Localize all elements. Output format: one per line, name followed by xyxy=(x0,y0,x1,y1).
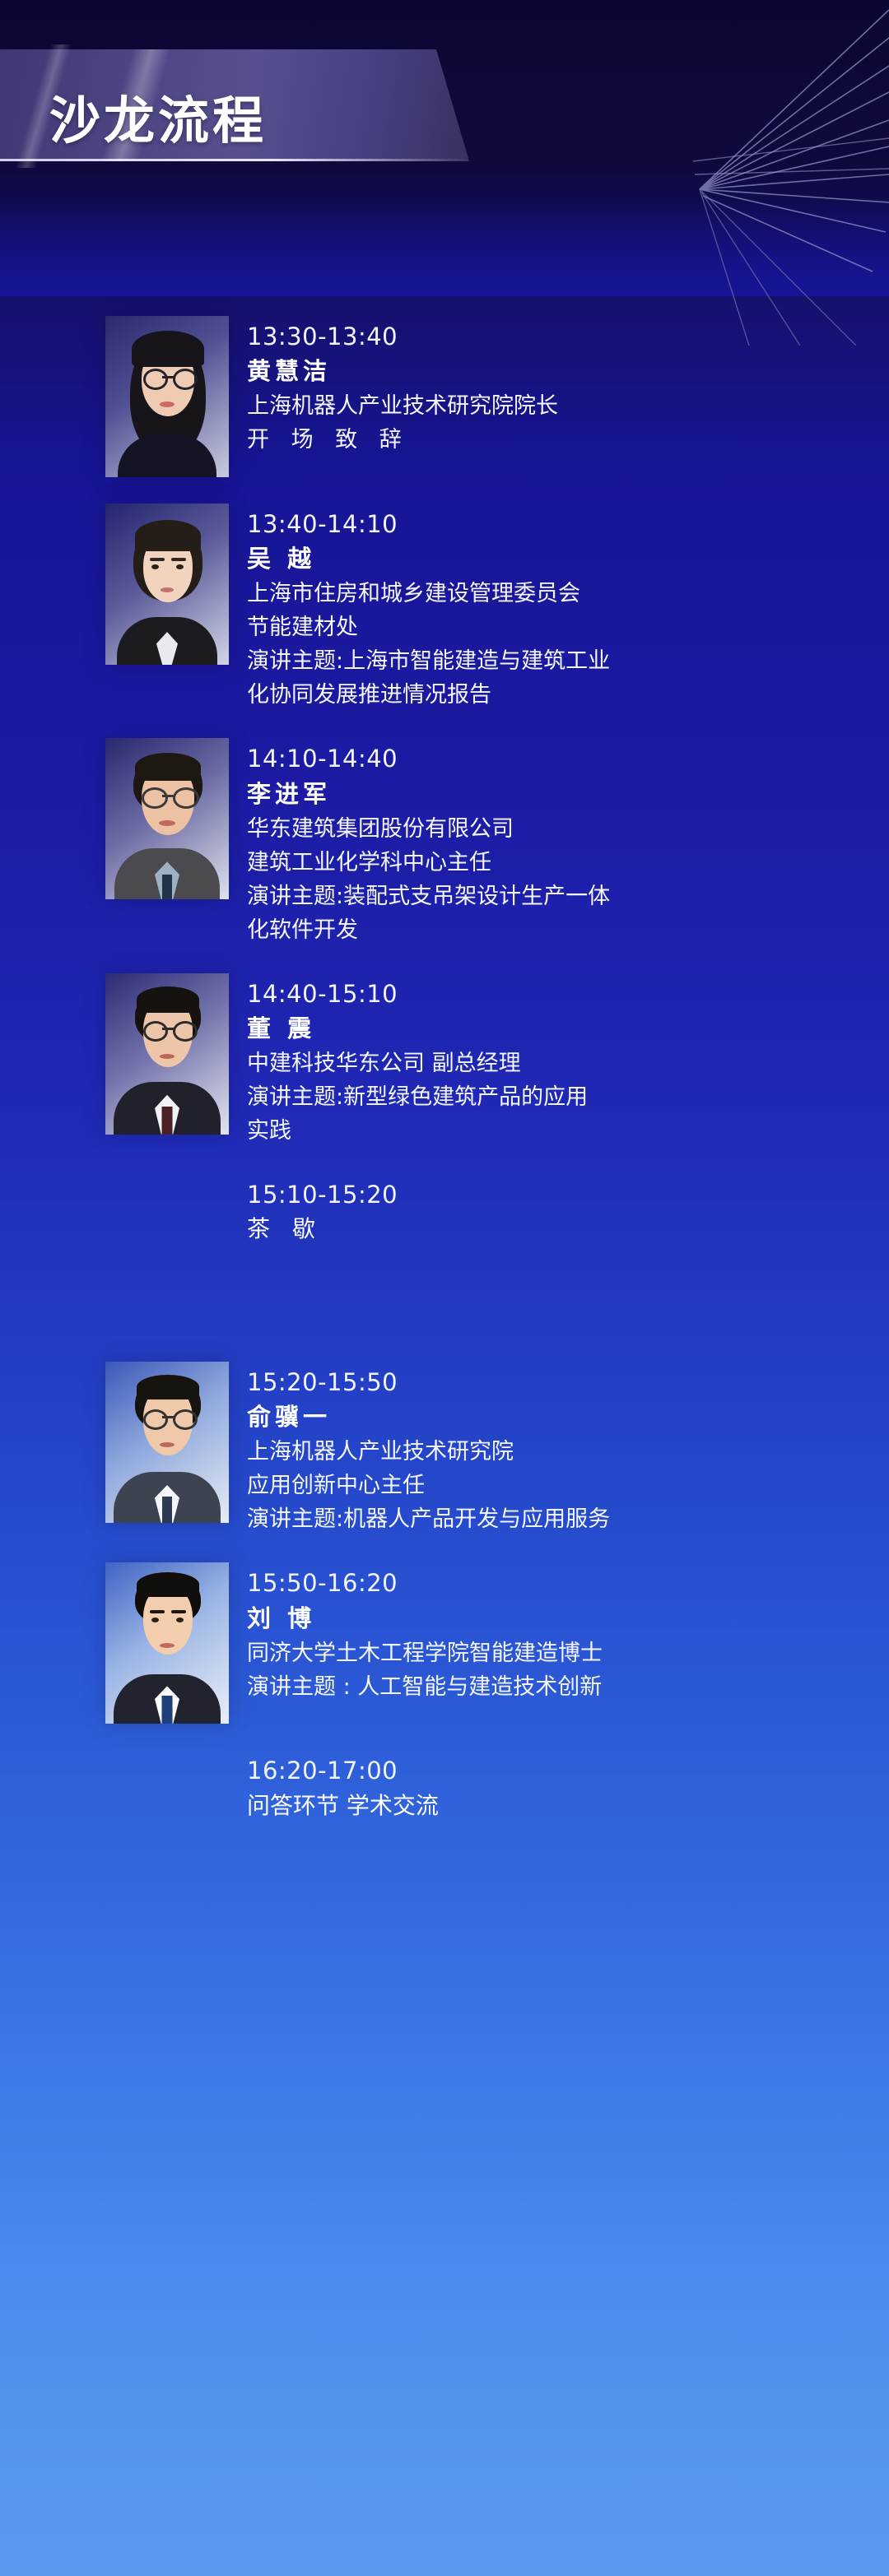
salon-agenda-poster: 沙龙流程 13:30-13:40 黄慧洁 上海 xyxy=(0,0,889,2576)
list-item: 14:40-15:10 董 震 中建科技华东公司 副总经理 演讲主题:新型绿色建… xyxy=(0,962,889,1163)
list-item: 13:40-14:10 吴 越 上海市住房和城乡建设管理委员会 节能建材处 演讲… xyxy=(0,492,889,726)
entry-text: 14:40-15:10 董 震 中建科技华东公司 副总经理 演讲主题:新型绿色建… xyxy=(247,973,889,1148)
speaker-affiliation: 华东建筑集团股份有限公司 xyxy=(247,812,889,846)
time-label: 13:40-14:10 xyxy=(247,507,889,541)
session-label: 问答环节 学术交流 xyxy=(247,1789,889,1823)
avatar xyxy=(105,316,229,477)
list-item: 13:30-13:40 黄慧洁 上海机器人产业技术研究院院长 开 场 致 辞 xyxy=(0,304,889,492)
list-item: 14:10-14:40 李进军 华东建筑集团股份有限公司 建筑工业化学科中心主任… xyxy=(0,726,889,961)
speaker-affiliation: 上海市住房和城乡建设管理委员会 xyxy=(247,577,889,610)
session-label: 开 场 致 辞 xyxy=(247,423,889,457)
speaker-name: 俞骥一 xyxy=(247,1399,889,1435)
entry-text: 14:10-14:40 李进军 华东建筑集团股份有限公司 建筑工业化学科中心主任… xyxy=(247,738,889,946)
talk-title-line-1: 演讲主题 : 人工智能与建造技术创新 xyxy=(247,1670,889,1704)
speaker-department: 建筑工业化学科中心主任 xyxy=(247,846,889,880)
time-label: 13:30-13:40 xyxy=(247,319,889,354)
speaker-name: 黄慧洁 xyxy=(247,354,889,389)
time-label: 15:10-15:20 xyxy=(247,1177,889,1212)
entry-text: 16:20-17:00 问答环节 学术交流 xyxy=(247,1750,889,1822)
list-item: 16:20-17:00 问答环节 学术交流 xyxy=(0,1738,889,1926)
speaker-department: 应用创新中心主任 xyxy=(247,1469,889,1502)
time-label: 15:20-15:50 xyxy=(247,1365,889,1399)
speaker-department: 节能建材处 xyxy=(247,610,889,644)
time-label: 15:50-16:20 xyxy=(247,1566,889,1600)
talk-title-line-1: 演讲主题:装配式支吊架设计生产一体 xyxy=(247,880,889,913)
speaker-affiliation: 上海机器人产业技术研究院院长 xyxy=(247,389,889,423)
talk-title-line-2: 实践 xyxy=(247,1114,889,1148)
entry-text: 13:30-13:40 黄慧洁 上海机器人产业技术研究院院长 开 场 致 辞 xyxy=(247,316,889,457)
speaker-affiliation: 中建科技华东公司 副总经理 xyxy=(247,1047,889,1080)
list-item: 15:10-15:20 茶 歇 xyxy=(0,1163,889,1350)
speaker-name: 吴 越 xyxy=(247,541,889,577)
page-title: 沙龙流程 xyxy=(49,79,267,153)
speaker-affiliation: 同济大学土木工程学院智能建造博士 xyxy=(247,1636,889,1670)
time-label: 14:10-14:40 xyxy=(247,741,889,776)
speaker-photo-slot xyxy=(0,1562,247,1724)
speaker-name: 刘 博 xyxy=(247,1601,889,1636)
speaker-photo-slot xyxy=(0,504,247,665)
speaker-photo-slot xyxy=(0,1362,247,1523)
speaker-name: 李进军 xyxy=(247,777,889,812)
speaker-photo-slot xyxy=(0,1174,247,1335)
speaker-photo-slot xyxy=(0,973,247,1135)
speaker-photo-slot xyxy=(0,1750,247,1911)
list-item: 15:20-15:50 俞骥一 上海机器人产业技术研究院 应用创新中心主任 演讲… xyxy=(0,1350,889,1551)
list-item: 15:50-16:20 刘 博 同济大学土木工程学院智能建造博士 演讲主题 : … xyxy=(0,1551,889,1738)
speaker-photo-slot xyxy=(0,738,247,899)
avatar xyxy=(105,738,229,899)
avatar xyxy=(105,504,229,665)
talk-title-line-2: 化软件开发 xyxy=(247,913,889,947)
schedule-list: 13:30-13:40 黄慧洁 上海机器人产业技术研究院院长 开 场 致 辞 xyxy=(0,304,889,1926)
speaker-photo-slot xyxy=(0,316,247,477)
entry-text: 15:50-16:20 刘 博 同济大学土木工程学院智能建造博士 演讲主题 : … xyxy=(247,1562,889,1703)
talk-title-line-2: 化协同发展推进情况报告 xyxy=(247,678,889,712)
speaker-name: 董 震 xyxy=(247,1011,889,1047)
entry-text: 15:20-15:50 俞骥一 上海机器人产业技术研究院 应用创新中心主任 演讲… xyxy=(247,1362,889,1536)
talk-title-line-1: 演讲主题:上海市智能建造与建筑工业 xyxy=(247,644,889,678)
avatar xyxy=(105,973,229,1135)
entry-text: 13:40-14:10 吴 越 上海市住房和城乡建设管理委员会 节能建材处 演讲… xyxy=(247,504,889,712)
entry-text: 15:10-15:20 茶 歇 xyxy=(247,1174,889,1246)
session-label: 茶 歇 xyxy=(247,1212,889,1246)
time-label: 16:20-17:00 xyxy=(247,1753,889,1788)
avatar xyxy=(105,1362,229,1523)
time-label: 14:40-15:10 xyxy=(247,977,889,1011)
talk-title-line-1: 演讲主题:机器人产品开发与应用服务 xyxy=(247,1502,889,1536)
speaker-affiliation: 上海机器人产业技术研究院 xyxy=(247,1435,889,1469)
avatar xyxy=(105,1562,229,1724)
talk-title-line-1: 演讲主题:新型绿色建筑产品的应用 xyxy=(247,1080,889,1114)
